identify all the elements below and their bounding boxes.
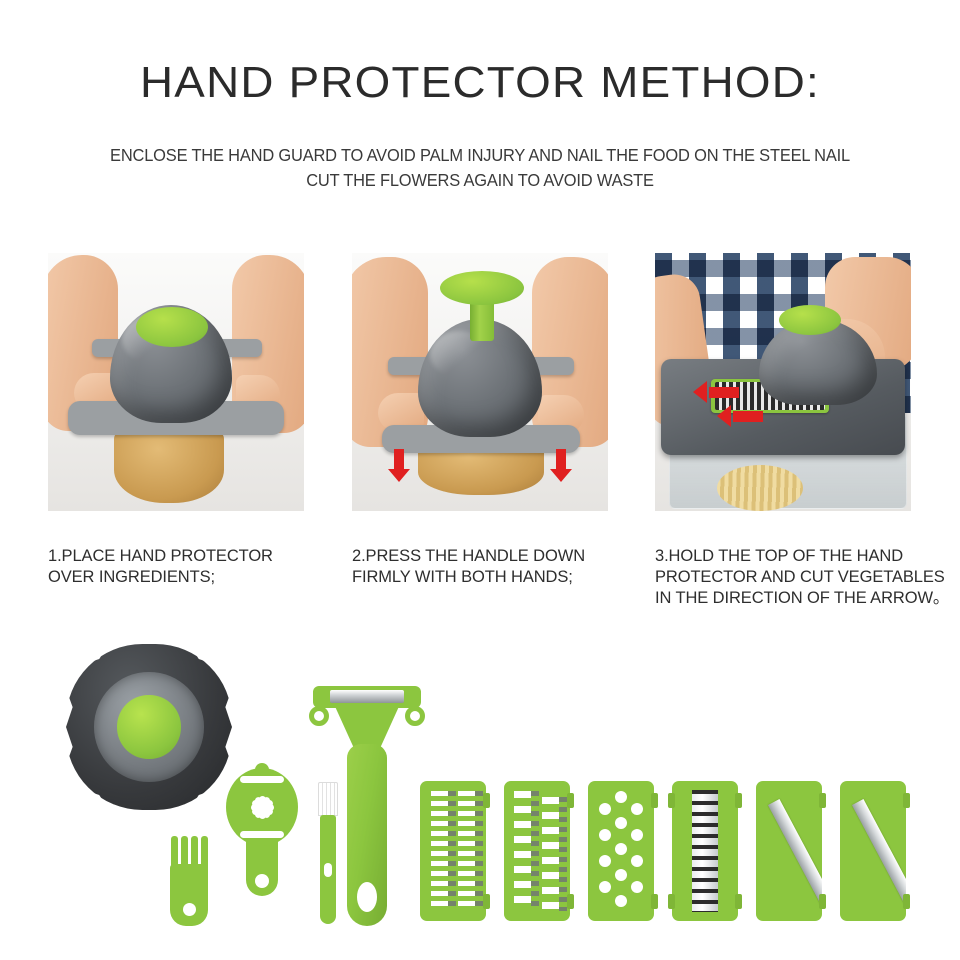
arrow-shaft bbox=[709, 387, 739, 398]
subtitle-line-1: ENCLOSE THE HAND GUARD TO AVOID PALM INJ… bbox=[29, 143, 931, 168]
cartridge-face bbox=[420, 781, 486, 921]
cartridge-face bbox=[840, 781, 906, 921]
peeler-hang-hole bbox=[357, 882, 377, 912]
cartridge-tab bbox=[819, 894, 826, 909]
blade-teeth-column bbox=[458, 791, 475, 911]
arrow-down-left bbox=[388, 449, 410, 493]
grater-hole bbox=[599, 855, 611, 867]
serrated-blade-strip bbox=[692, 790, 718, 912]
cartridge-face bbox=[672, 781, 738, 921]
round-hole-grater-cartridge bbox=[588, 781, 654, 921]
diagonal-slicer-cartridge-1 bbox=[756, 781, 822, 921]
cartridge-tab bbox=[567, 894, 574, 909]
grater-hole bbox=[615, 817, 627, 829]
cartridge-tab bbox=[735, 793, 742, 808]
blade-teeth-shadow bbox=[448, 791, 456, 911]
blade-teeth-column bbox=[514, 791, 531, 911]
separator-head bbox=[226, 768, 298, 846]
peeler-metal-blade bbox=[330, 690, 404, 703]
grater-hole bbox=[631, 855, 643, 867]
plunger-knob bbox=[440, 271, 524, 305]
peeler-ear-left bbox=[309, 706, 329, 726]
y-peeler bbox=[313, 676, 421, 926]
fork-comb-tool bbox=[170, 836, 208, 926]
blade-teeth-column bbox=[542, 797, 559, 911]
arrow-head bbox=[388, 469, 410, 482]
cartridge-tab bbox=[651, 894, 658, 909]
hand-protector-top-view bbox=[66, 644, 232, 810]
peeler-yoke bbox=[333, 702, 401, 750]
protector-green-center bbox=[117, 695, 180, 758]
green-cap bbox=[779, 305, 841, 335]
arrow-head bbox=[693, 381, 707, 403]
cartridge-face bbox=[756, 781, 822, 921]
green-cap bbox=[136, 307, 208, 347]
page-title: HAND PROTECTOR METHOD: bbox=[0, 58, 960, 108]
arrow-left-upper bbox=[693, 381, 739, 405]
grater-hole bbox=[631, 829, 643, 841]
diagonal-blade bbox=[768, 799, 822, 904]
cartridge-tab bbox=[483, 894, 490, 909]
page-subtitle: ENCLOSE THE HAND GUARD TO AVOID PALM INJ… bbox=[29, 143, 931, 193]
grater-hole bbox=[615, 895, 627, 907]
step-1-photo bbox=[48, 253, 304, 511]
grater-hole bbox=[599, 829, 611, 841]
step-2-photo bbox=[352, 253, 608, 511]
fine-julienne-blade-cartridge bbox=[420, 781, 486, 921]
accessories-lineup bbox=[0, 636, 960, 948]
step-3-caption: 3.HOLD THE TOP OF THE HAND PROTECTOR AND… bbox=[655, 546, 950, 609]
subtitle-line-2: CUT THE FLOWERS AGAIN TO AVOID WASTE bbox=[29, 168, 931, 193]
grater-hole bbox=[631, 803, 643, 815]
grater-hole bbox=[599, 803, 611, 815]
step-captions: 1.PLACE HAND PROTECTOR OVER INGREDIENTS;… bbox=[0, 546, 960, 646]
grater-hole bbox=[615, 869, 627, 881]
serrated-blade-cartridge bbox=[672, 781, 738, 921]
cartridge-tab bbox=[819, 793, 826, 808]
peeler-handle bbox=[347, 744, 387, 926]
arrow-shaft bbox=[556, 449, 566, 471]
grater-hole bbox=[631, 881, 643, 893]
egg-separator-flower-tool bbox=[226, 768, 298, 896]
cartridge-tab bbox=[903, 793, 910, 808]
step-1-caption: 1.PLACE HAND PROTECTOR OVER INGREDIENTS; bbox=[48, 546, 318, 588]
fork-body bbox=[170, 864, 208, 926]
blade-teeth-shadow bbox=[475, 791, 483, 911]
coarse-julienne-blade-cartridge bbox=[504, 781, 570, 921]
step-photo-row bbox=[0, 253, 960, 511]
diagonal-blade bbox=[852, 799, 906, 904]
separator-nub bbox=[255, 763, 269, 777]
separator-hang-hole bbox=[255, 874, 269, 888]
arrow-head bbox=[550, 469, 572, 482]
fork-hang-hole bbox=[183, 903, 196, 916]
grater-hole bbox=[615, 843, 627, 855]
sliced-potato-chip bbox=[717, 465, 803, 511]
arrow-down-right bbox=[550, 449, 572, 493]
grater-hole bbox=[615, 791, 627, 803]
cartridge-face bbox=[504, 781, 570, 921]
cartridge-tab bbox=[483, 793, 490, 808]
diagonal-slicer-cartridge-2 bbox=[840, 781, 906, 921]
arrow-shaft bbox=[733, 411, 763, 422]
separator-slot-top bbox=[240, 776, 284, 783]
grater-hole bbox=[599, 881, 611, 893]
step-3-photo bbox=[655, 253, 911, 511]
cartridge-tab bbox=[668, 793, 675, 808]
potato bbox=[114, 431, 224, 503]
cartridge-tab bbox=[735, 894, 742, 909]
cartridge-tab bbox=[668, 894, 675, 909]
step-2-caption: 2.PRESS THE HANDLE DOWN FIRMLY WITH BOTH… bbox=[352, 546, 617, 588]
cartridge-tab bbox=[651, 793, 658, 808]
cartridge-tab bbox=[903, 894, 910, 909]
cartridge-tab bbox=[567, 793, 574, 808]
blade-teeth-shadow bbox=[559, 797, 567, 911]
arrow-head bbox=[717, 405, 731, 427]
serrated-teeth bbox=[692, 790, 718, 912]
arrow-left-lower bbox=[717, 405, 763, 429]
arrow-shaft bbox=[394, 449, 404, 471]
peeler-ear-right bbox=[405, 706, 425, 726]
cartridge-face bbox=[588, 781, 654, 921]
separator-slot-bottom bbox=[240, 831, 284, 838]
blade-teeth-column bbox=[431, 791, 448, 911]
blade-teeth-shadow bbox=[531, 791, 539, 911]
